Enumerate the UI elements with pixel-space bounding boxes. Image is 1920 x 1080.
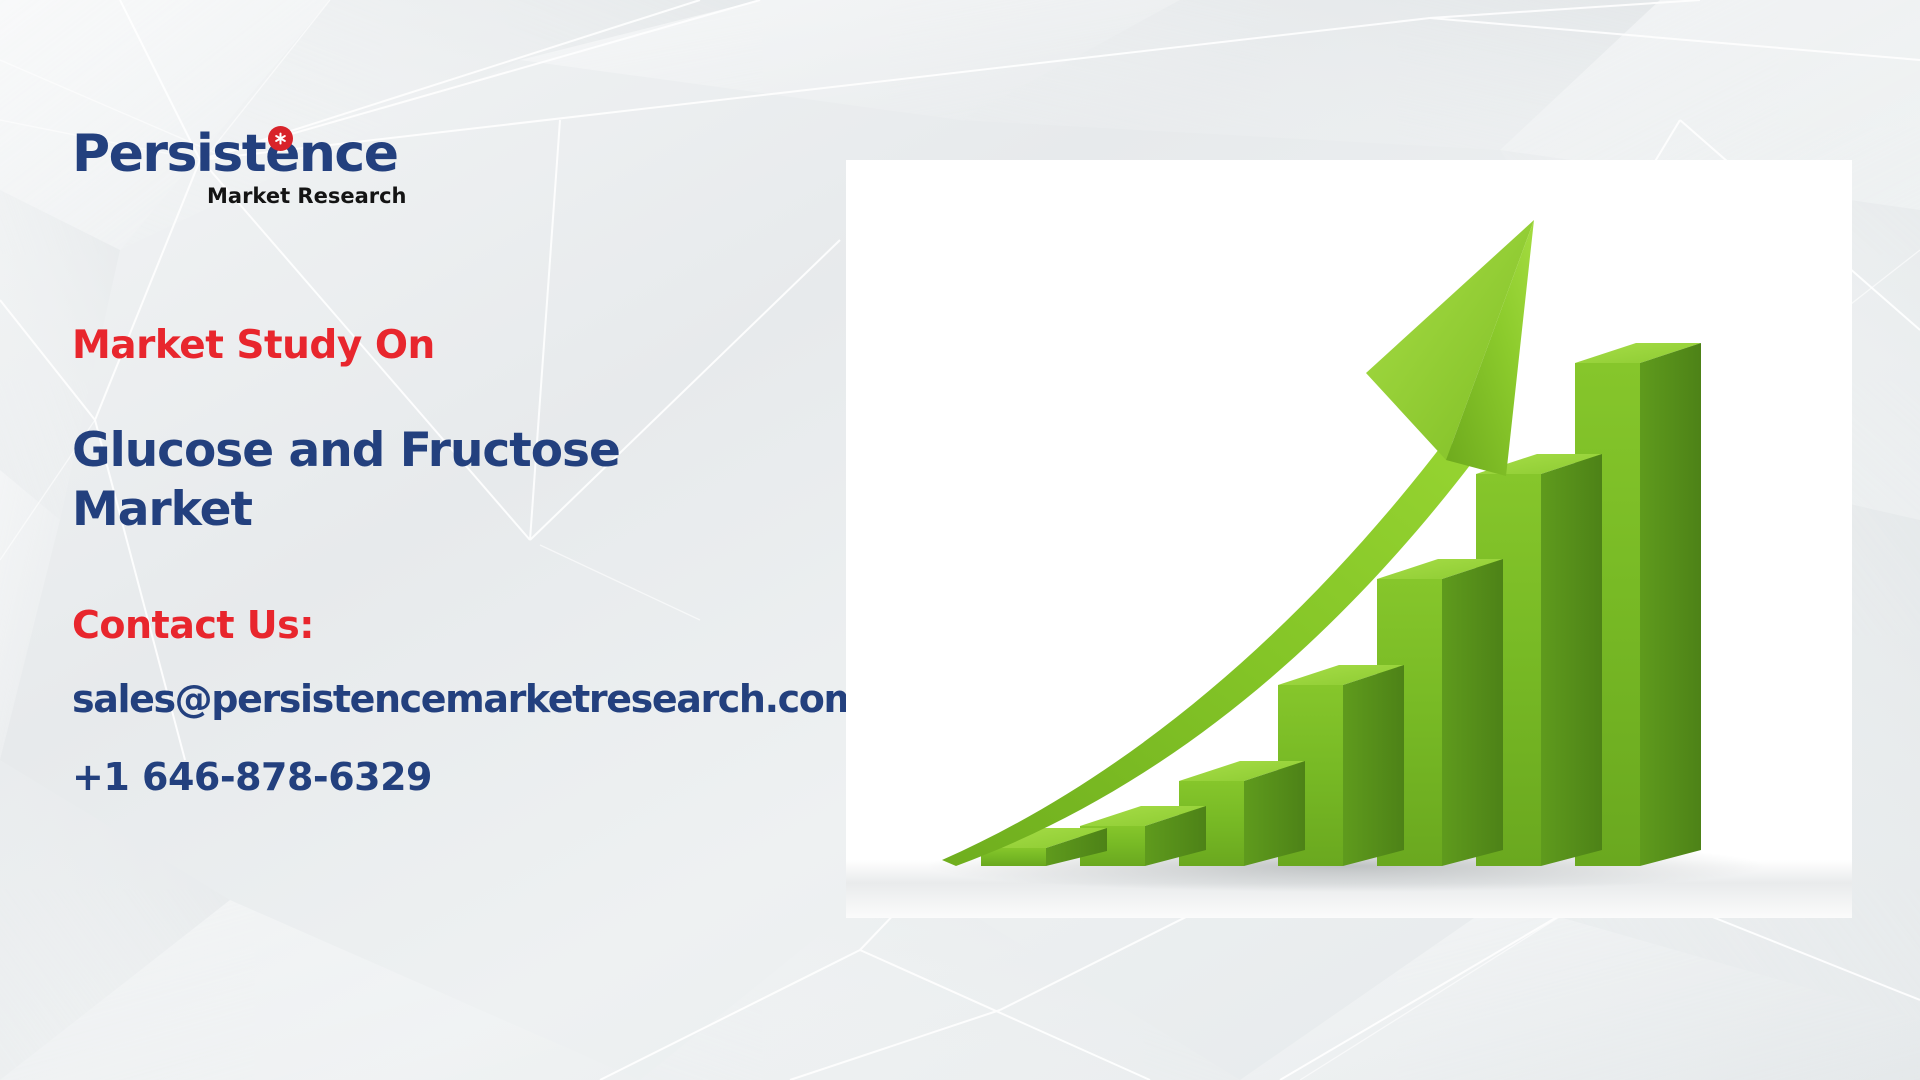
- brand-logo: Persistence Market Research: [72, 118, 452, 213]
- contact-email[interactable]: sales@persistencemarketresearch.com: [72, 677, 832, 721]
- contact-us-label: Contact Us:: [72, 603, 832, 647]
- slide-canvas: Persistence Market Research Market Study…: [0, 0, 1920, 1080]
- kicker-text: Market Study On: [72, 325, 832, 368]
- growth-bar-chart-svg: [846, 160, 1852, 918]
- red-asterisk-badge-icon: [268, 126, 293, 151]
- page-title: Glucose and Fructose Market: [72, 422, 712, 540]
- contact-phone[interactable]: +1 646-878-6329: [72, 755, 832, 799]
- left-content-column: Persistence Market Research Market Study…: [72, 118, 832, 799]
- growth-bar-chart: [846, 160, 1852, 918]
- logo-subtitle: Market Research: [207, 184, 407, 208]
- logo-wordmark: Persistence: [72, 128, 398, 180]
- chart-image-panel: [846, 160, 1852, 918]
